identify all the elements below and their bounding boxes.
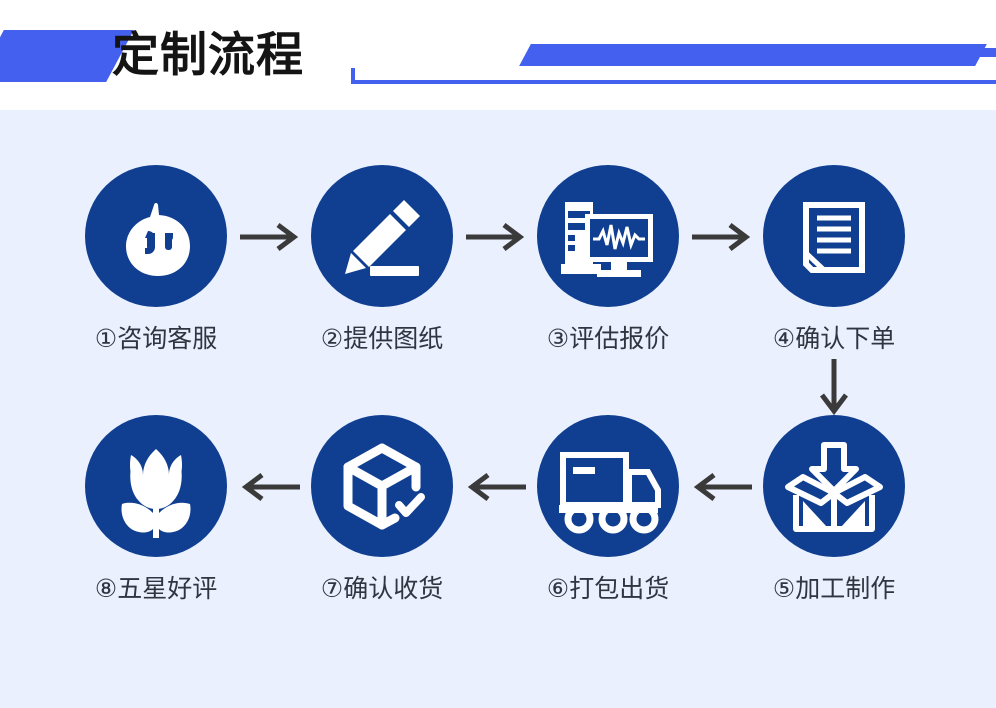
flow-panel: ①咨询客服 ②提供图纸 [0,110,996,708]
header-rule [351,80,996,84]
pencil-icon [311,165,453,307]
step-3-circle [537,165,679,307]
delivery-truck-icon [537,415,679,557]
step-1-circle [85,165,227,307]
header-decorative-bar-tip [970,48,996,57]
flow-grid: ①咨询客服 ②提供图纸 [0,110,996,708]
page-header: 定制流程 [0,0,996,110]
flower-icon [85,415,227,557]
flow-step-2-label: ②提供图纸 [292,324,472,354]
flow-step-4-label: ④确认下单 [744,324,924,354]
page-title: 定制流程 [112,28,304,84]
box-check-icon [311,415,453,557]
computer-waveform-icon [537,165,679,307]
flow-step-6-label: ⑥打包出货 [518,574,698,604]
flow-step-8-label: ⑧五星好评 [66,574,246,604]
flow-step-5-label: ⑤加工制作 [744,574,924,604]
step-6-circle [537,415,679,557]
flow-step-3[interactable]: ③评估报价 [518,165,698,354]
flow-step-5[interactable]: ⑤加工制作 [744,415,924,604]
arrow-down-1 [817,359,851,421]
flow-step-1[interactable]: ①咨询客服 [66,165,246,354]
step-8-circle [85,415,227,557]
flow-step-6[interactable]: ⑥打包出货 [518,415,698,604]
flow-step-3-label: ③评估报价 [518,324,698,354]
step-2-circle [311,165,453,307]
step-4-circle [763,165,905,307]
flow-step-8[interactable]: ⑧五星好评 [66,415,246,604]
flow-step-2[interactable]: ②提供图纸 [292,165,472,354]
header-decorative-bar [519,44,987,66]
flow-step-4[interactable]: ④确认下单 [744,165,924,354]
flow-step-7[interactable]: ⑦确认收货 [292,415,472,604]
flow-step-7-label: ⑦确认收货 [292,574,472,604]
speech-bubble-icon [85,165,227,307]
step-5-circle [763,415,905,557]
open-box-arrow-icon [763,415,905,557]
flow-step-1-label: ①咨询客服 [66,324,246,354]
document-icon [763,165,905,307]
step-7-circle [311,415,453,557]
